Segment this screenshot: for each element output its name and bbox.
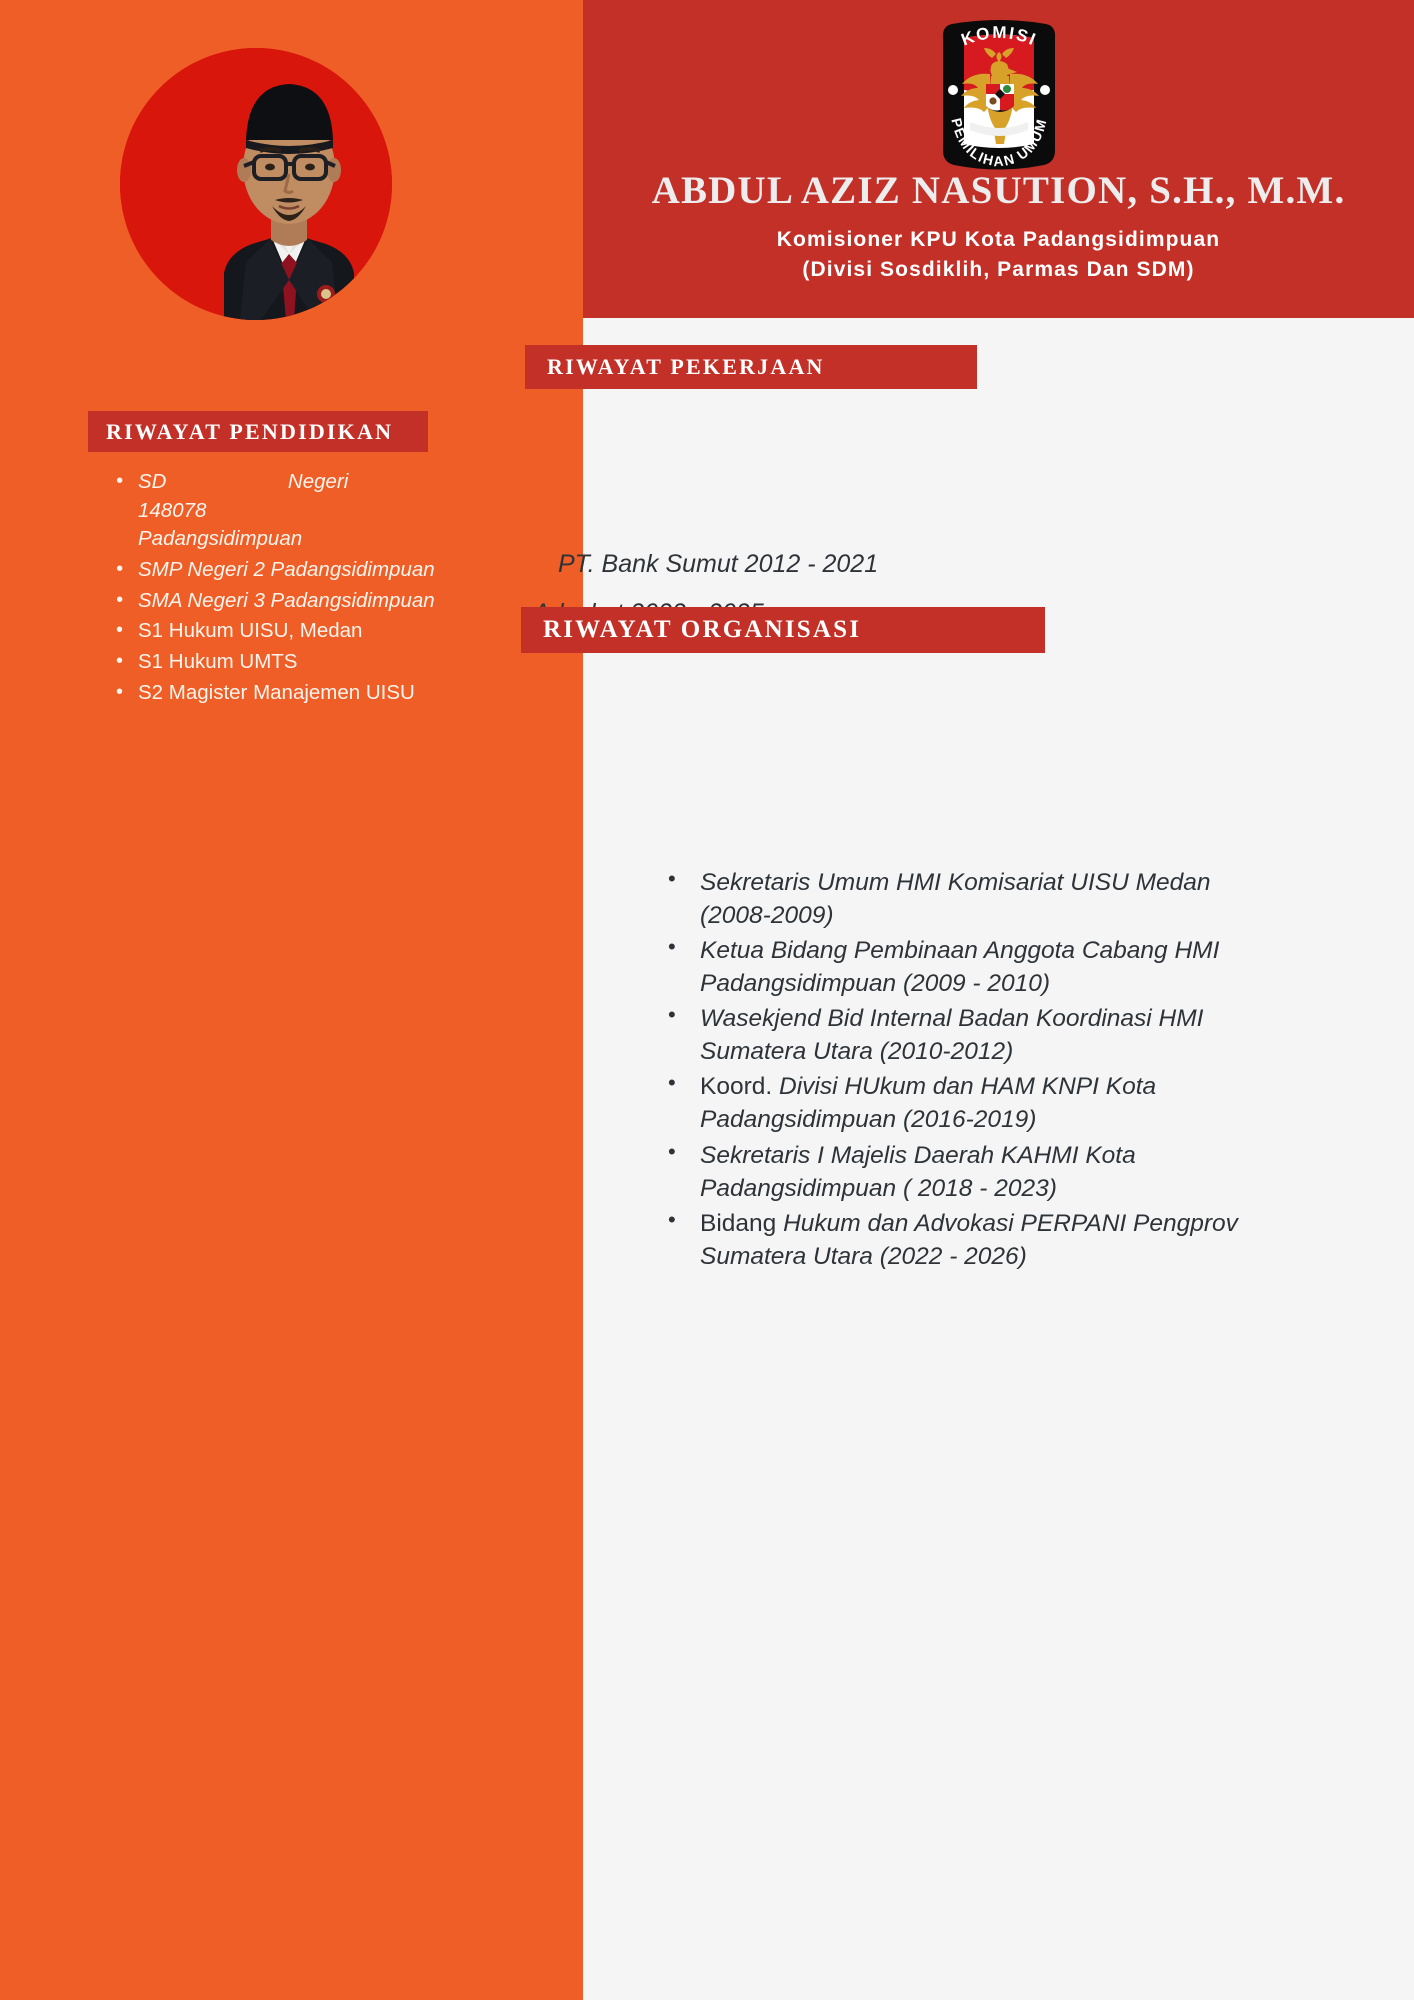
section-heading-education: RIWAYAT PENDIDIKAN [88,411,428,452]
edu-word-4: Padangsidimpuan [138,527,302,550]
avatar [120,48,392,320]
edu-word-3: 148078 [138,499,206,522]
profile-portrait [120,48,392,320]
list-item: Koord. Divisi HUkum dan HAM KNPI Kota Pa… [700,1070,1280,1136]
section-heading-work: RIWAYAT PEKERJAAN [525,345,977,389]
list-item: Sekretaris Umum HMI Komisariat UISU Meda… [700,866,1280,932]
org-item-rest: Hukum dan Advokasi PERPANI Pengprov Suma… [700,1210,1238,1270]
list-item: Wasekjend Bid Internal Badan Koordinasi … [700,1002,1280,1068]
organisation-list: Sekretaris Umum HMI Komisariat UISU Meda… [700,866,1280,1275]
list-item: SMA Negeri 3 Padangsidimpuan [110,587,440,616]
role-line-1: Komisioner KPU Kota Padangsidimpuan [583,228,1414,252]
list-item: Bidang Hukum dan Advokasi PERPANI Pengpr… [700,1207,1280,1273]
list-item: SMP Negeri 2 Padangsidimpuan [110,556,440,585]
header-banner: KOMISI PEMILIHAN UMUM ABDUL AZIZ NASUTIO… [583,0,1414,318]
page-title: ABDUL AZIZ NASUTION, S.H., M.M. [583,168,1414,213]
org-item-prefix: Bidang [700,1210,776,1237]
kpu-logo-icon: KOMISI PEMILIHAN UMUM [934,14,1064,174]
role-line-2: (Divisi Sosdiklih, Parmas Dan SDM) [583,258,1414,282]
list-item: Sekretaris I Majelis Daerah KAHMI Kota P… [700,1139,1280,1205]
edu-word-1: SD [138,470,166,493]
list-item: S1 Hukum UMTS [110,648,440,677]
list-item: PT. Bank Sumut 2012 - 2021 [533,552,1133,577]
list-item: Ketua Bidang Pembinaan Anggota Cabang HM… [700,934,1280,1000]
org-item-prefix: Koord. [700,1073,772,1100]
list-item: SD Negeri 148078 Padangsidimpuan [110,468,440,554]
edu-word-2: Negeri [288,470,348,493]
list-item: S1 Hukum UISU, Medan [110,617,440,646]
section-heading-organisation: RIWAYAT ORGANISASI [521,607,1045,653]
education-list: SD Negeri 148078 Padangsidimpuan SMP Neg… [110,468,440,710]
list-item: S2 Magister Manajemen UISU [110,679,440,708]
